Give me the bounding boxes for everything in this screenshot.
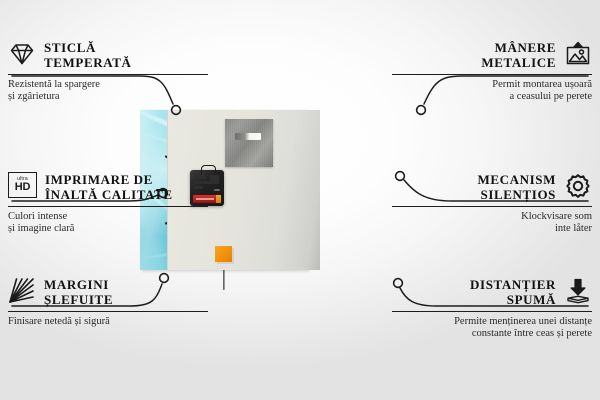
divider (8, 206, 208, 207)
diamond-icon (8, 40, 36, 68)
hanger-slot (235, 133, 261, 140)
feature-title: MECANISM SILENȚIOS (478, 172, 556, 202)
divider (392, 311, 592, 312)
ultra-hd-badge-icon: ultra HD (8, 172, 37, 198)
feature-tempered-glass: STICLĂ TEMPERATĂ Rezistentă la spargere … (8, 40, 208, 103)
feature-subtitle: Rezistentă la spargere și zgârietura (8, 79, 208, 103)
foam-spacer-pad (215, 246, 232, 262)
feature-polished-edges: MARGINI ȘLEFUITE Finisare netedă și sigu… (8, 277, 208, 328)
badge-main-text: HD (15, 182, 31, 193)
feature-title: STICLĂ TEMPERATĂ (44, 40, 132, 70)
divider (8, 74, 208, 75)
feature-subtitle: Klockvisare som inte låter (392, 211, 592, 235)
feature-title: IMPRIMARE DE ÎNALTĂ CALITATE (45, 172, 173, 202)
feature-title: MARGINI ȘLEFUITE (44, 277, 113, 307)
feature-silent-mechanism: MECANISM SILENȚIOS Klockvisare som inte … (392, 172, 592, 235)
feature-metal-hangers: MÂNERE METALICE Permit montarea ușoară a… (392, 40, 592, 103)
feature-subtitle: Permit montarea ușoară a ceasului pe per… (392, 79, 592, 103)
diagonal-hatch-icon (8, 277, 36, 305)
divider (392, 74, 592, 75)
feature-subtitle: Culori intense și imagine clară (8, 211, 208, 235)
feature-high-quality-print: ultra HD IMPRIMARE DE ÎNALTĂ CALITATE Cu… (8, 172, 208, 235)
divider (392, 206, 592, 207)
feature-subtitle: Permite menținerea unei distanțe constan… (392, 316, 592, 340)
feature-title: MÂNERE METALICE (481, 40, 556, 70)
divider (8, 311, 208, 312)
feature-subtitle: Finisare netedă și sigură (8, 316, 208, 328)
metal-hanger-plate (225, 119, 273, 167)
picture-frame-hanging-icon (564, 40, 592, 68)
gear-icon (564, 172, 592, 200)
feature-foam-spacer: DISTANȚIER SPUMĂ Permite menținerea unei… (392, 277, 592, 340)
feature-title: DISTANȚIER SPUMĂ (470, 277, 556, 307)
down-arrow-stack-icon (564, 277, 592, 305)
infographic-canvas: STICLĂ TEMPERATĂ Rezistentă la spargere … (0, 0, 600, 400)
